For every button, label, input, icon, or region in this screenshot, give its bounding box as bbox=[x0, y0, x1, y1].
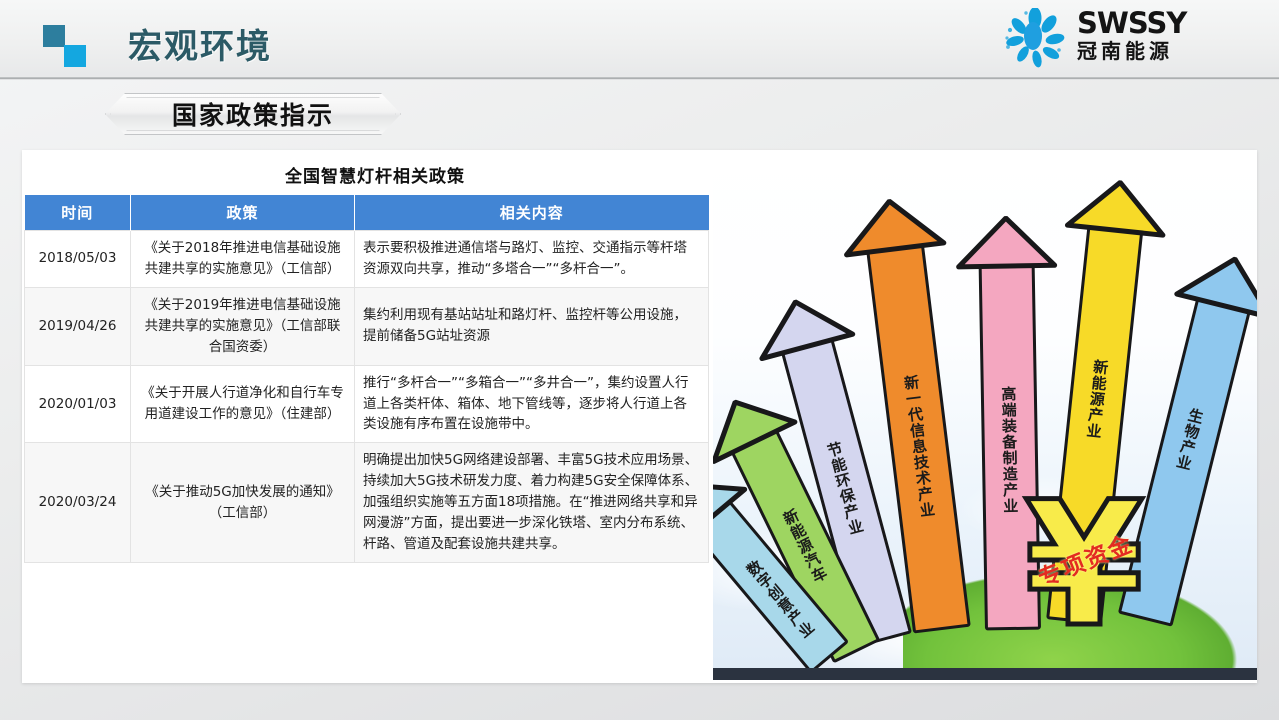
header-divider bbox=[0, 76, 1279, 80]
table-row: 2020/01/03 《关于开展人行道净化和自行车专用道建设工作的意见》（住建部… bbox=[25, 365, 709, 443]
table-row: 2018/05/03 《关于2018年推进电信基础设施共建共享的实施意见》（工信… bbox=[25, 231, 709, 288]
cell-date: 2020/03/24 bbox=[25, 443, 131, 563]
illustration-bottom-bar bbox=[713, 668, 1257, 680]
industry-arrows-illustration: 生物产业 新能源产业 高端装备制造产业 bbox=[713, 150, 1257, 680]
logo-squares-icon bbox=[43, 25, 93, 65]
column-header-policy: 政策 bbox=[131, 195, 355, 231]
logo-square-dark bbox=[43, 25, 65, 47]
policy-table: 时间 政策 相关内容 2018/05/03 《关于2018年推进电信基础设施共建… bbox=[24, 195, 709, 563]
slide: 宏观环境 bbox=[0, 0, 1279, 720]
cell-date: 2018/05/03 bbox=[25, 231, 131, 288]
slide-header: 宏观环境 bbox=[0, 0, 1279, 79]
cell-policy: 《关于开展人行道净化和自行车专用道建设工作的意见》（住建部） bbox=[131, 365, 355, 443]
policy-table-block: 全国智慧灯杆相关政策 时间 政策 相关内容 2018/05/03 《关于2018… bbox=[22, 150, 728, 563]
column-header-time: 时间 bbox=[25, 195, 131, 231]
table-title: 全国智慧灯杆相关政策 bbox=[22, 150, 728, 195]
table-row: 2020/03/24 《关于推动5G加快发展的通知》（工信部） 明确提出加快5G… bbox=[25, 443, 709, 563]
cell-content: 推行“多杆合一”“多箱合一”“多井合一”，集约设置人行道上各类杆体、箱体、地下管… bbox=[355, 365, 709, 443]
logo-square-light bbox=[64, 45, 86, 67]
brand-name-cn: 冠南能源 bbox=[1077, 39, 1186, 63]
cell-date: 2019/04/26 bbox=[25, 287, 131, 365]
water-droplet-flower-icon bbox=[999, 8, 1071, 70]
cell-content: 表示要积极推进通信塔与路灯、监控、交通指示等杆塔资源双向共享，推动“多塔合一”“… bbox=[355, 231, 709, 288]
section-banner: 国家政策指示 bbox=[105, 93, 401, 135]
page-title: 宏观环境 bbox=[128, 19, 272, 68]
arrow-head-icon bbox=[746, 287, 859, 366]
arrow-head-icon bbox=[954, 215, 1059, 273]
cell-policy: 《关于2018年推进电信基础设施共建共享的实施意见》（工信部） bbox=[131, 231, 355, 288]
arrow-head-icon bbox=[837, 193, 949, 262]
cell-content: 集约利用现有基站站址和路灯杆、监控杆等公用设施，提前储备5G站址资源 bbox=[355, 287, 709, 365]
special-fund-coin: ¥ 专项资金 bbox=[1009, 480, 1159, 650]
brand-name-en: SWSSY bbox=[1077, 8, 1186, 39]
cell-policy: 《关于2019年推进电信基础设施共建共享的实施意见》（工信部联合国资委） bbox=[131, 287, 355, 365]
column-header-content: 相关内容 bbox=[355, 195, 709, 231]
table-header-row: 时间 政策 相关内容 bbox=[25, 195, 709, 231]
cell-content: 明确提出加快5G网络建设部署、丰富5G技术应用场景、持续加大5G技术研发力度、着… bbox=[355, 443, 709, 563]
cell-date: 2020/01/03 bbox=[25, 365, 131, 443]
brand-text: SWSSY 冠南能源 bbox=[1077, 8, 1186, 63]
cell-policy: 《关于推动5G加快发展的通知》（工信部） bbox=[131, 443, 355, 563]
section-banner-label: 国家政策指示 bbox=[105, 93, 401, 135]
arrow-head-icon bbox=[1063, 175, 1172, 242]
content-panel: 全国智慧灯杆相关政策 时间 政策 相关内容 2018/05/03 《关于2018… bbox=[22, 150, 1257, 683]
brand-logo: SWSSY 冠南能源 bbox=[999, 6, 1269, 72]
table-row: 2019/04/26 《关于2019年推进电信基础设施共建共享的实施意见》（工信… bbox=[25, 287, 709, 365]
